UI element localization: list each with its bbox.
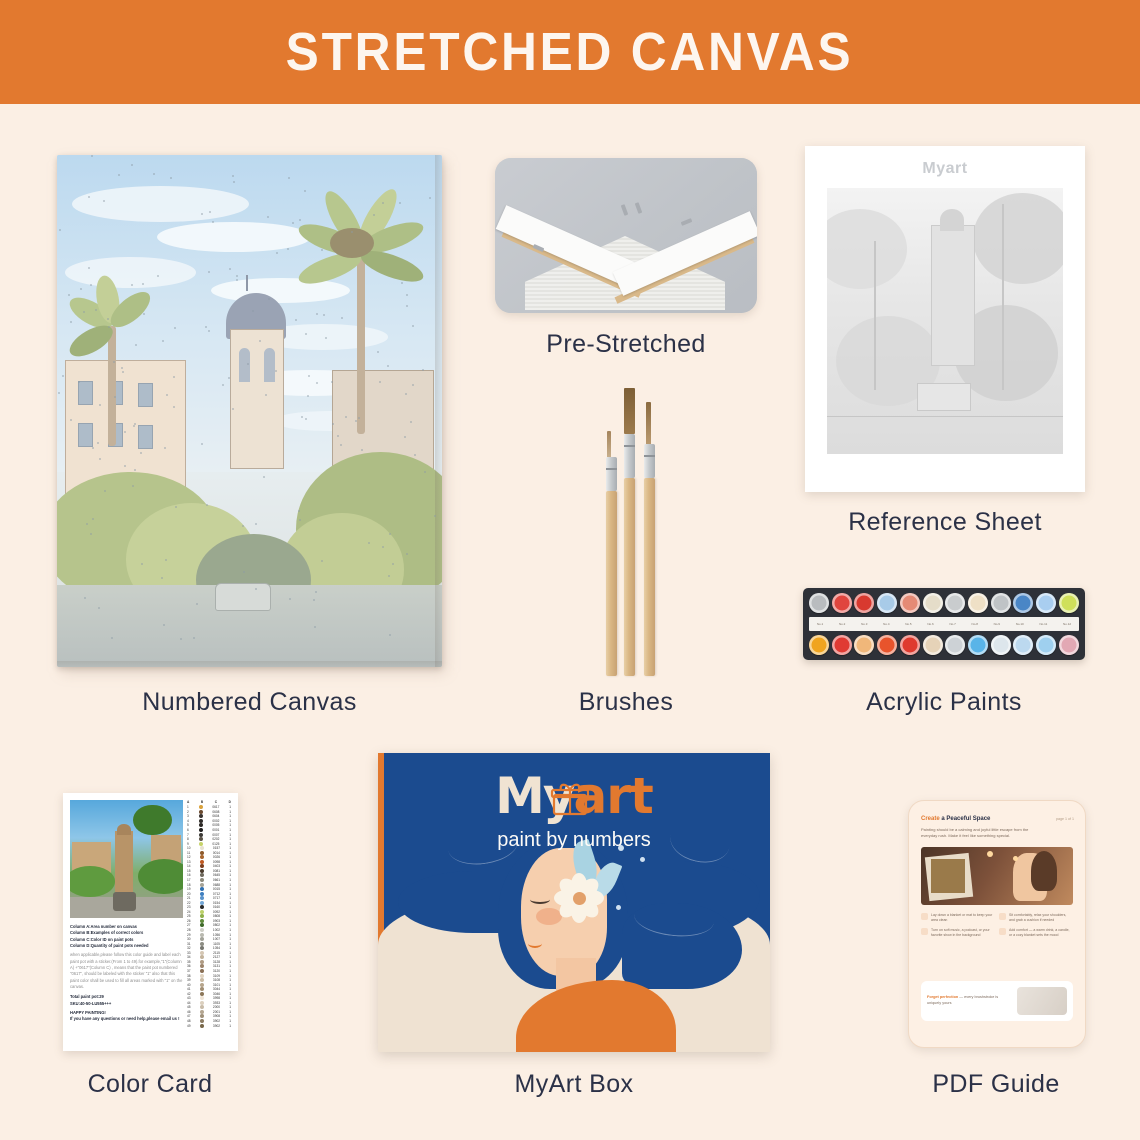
paint-pot — [991, 635, 1011, 655]
cell-area-number: 28 — [187, 928, 191, 932]
cell-quantity: 1 — [229, 969, 231, 973]
cell-color-swatch — [200, 951, 204, 955]
numbered-canvas-image — [57, 155, 442, 667]
paint-number-dot — [92, 447, 94, 449]
paint-number-dot — [345, 416, 347, 418]
pdf-tip-list: Lay down a blanket or mat to keep your a… — [921, 913, 1073, 938]
cell-area-number: 32 — [187, 946, 191, 950]
paint-label: No.4 — [883, 622, 889, 626]
cell-quantity: 1 — [229, 937, 231, 941]
cell-color-id: 0125 — [212, 842, 219, 846]
paint-number-dot — [236, 275, 238, 277]
pdf-subtitle: Painting should be a calming and joyful … — [921, 827, 1045, 839]
paint-number-dot — [99, 458, 101, 460]
cell-area-number: 41 — [187, 987, 191, 991]
canvas-artwork — [57, 155, 442, 667]
cell-color-swatch — [200, 937, 204, 941]
caption-pdf-guide: PDF Guide — [896, 1070, 1096, 1099]
brand-tagline: paint by numbers — [378, 829, 770, 852]
cell-color-swatch — [200, 996, 204, 1000]
cell-color-swatch — [200, 910, 204, 914]
paint-number-dot — [268, 298, 270, 300]
cell-color-id: 0802 — [213, 923, 220, 927]
cell-color-swatch — [200, 978, 204, 982]
paint-pot — [945, 635, 965, 655]
cell-quantity: 1 — [229, 978, 231, 982]
paint-number-dot — [412, 325, 414, 327]
color-card-image: Column A:Area number on canvas Column B:… — [63, 793, 238, 1051]
cell-color-swatch — [199, 819, 203, 823]
paint-pot — [900, 593, 920, 613]
paint-number-dot — [99, 404, 101, 406]
cell-quantity: 1 — [229, 878, 231, 882]
cell-color-id: 0645 — [213, 873, 220, 877]
cell-quantity: 1 — [229, 860, 231, 864]
pdf-page-number: page 1 of 1 — [1056, 817, 1074, 821]
cell-area-number: 30 — [187, 937, 191, 941]
cell-quantity: 1 — [229, 901, 231, 905]
cell-color-id: 3046 — [213, 992, 220, 996]
paint-number-dot — [97, 442, 99, 444]
cell-color-id: 0202 — [212, 837, 219, 841]
cell-color-id: 0002 — [212, 819, 219, 823]
canvas-right-edge — [435, 155, 442, 667]
paint-number-dot — [132, 485, 134, 487]
pdf-tip: Sit comfortably, relax your shoulders, a… — [999, 913, 1071, 924]
cell-area-number: 43 — [187, 996, 191, 1000]
cell-quantity: 1 — [229, 951, 231, 955]
paint-number-dot — [157, 275, 159, 277]
paint-number-dot — [247, 363, 249, 365]
cell-area-number: 31 — [187, 942, 191, 946]
paint-pot — [1059, 635, 1079, 655]
paint-label: No.5 — [905, 622, 911, 626]
cell-quantity: 1 — [229, 805, 231, 809]
paint-pot — [991, 593, 1011, 613]
cell-color-id: 2000 — [213, 1005, 220, 1009]
caption-pre-stretched: Pre-Stretched — [495, 330, 757, 359]
cell-quantity: 1 — [229, 914, 231, 918]
cell-area-number: 19 — [187, 887, 191, 891]
cell-color-swatch — [199, 805, 203, 809]
paint-number-dot — [387, 365, 389, 367]
callout-image — [1017, 987, 1067, 1015]
pdf-title: Create a Peaceful Space — [921, 816, 990, 822]
cell-color-id: 0903 — [213, 919, 220, 923]
caption-numbered-canvas: Numbered Canvas — [57, 688, 442, 717]
paint-number-dot — [321, 560, 323, 562]
cell-color-swatch — [200, 1019, 204, 1023]
paint-number-dot — [68, 294, 70, 296]
paint-number-dot — [91, 155, 93, 157]
cell-color-swatch — [200, 987, 204, 991]
pdf-guide-image: Create a Peaceful Space page 1 of 1 Pain… — [908, 800, 1086, 1048]
paint-pot — [809, 593, 829, 613]
cell-area-number: 1 — [187, 805, 189, 809]
cell-quantity: 1 — [229, 892, 231, 896]
legend-line: Column D:Quantity of paint pots needed — [70, 943, 183, 949]
cell-color-swatch — [200, 869, 204, 873]
paint-number-dot — [80, 288, 82, 290]
cell-area-number: 23 — [187, 905, 191, 909]
paint-number-dot — [392, 563, 394, 565]
cell-color-id: 0081 — [213, 869, 220, 873]
tip-text: Sit comfortably, relax your shoulders, a… — [1009, 913, 1071, 924]
cell-color-id: 2001 — [213, 1010, 220, 1014]
cell-color-swatch — [199, 828, 203, 832]
cell-quantity: 1 — [229, 846, 231, 850]
acrylic-paints-image: No.1No.2No.3No.4No.5No.6No.7No.8No.9No.1… — [803, 588, 1085, 660]
cell-color-id: 0154 — [213, 901, 220, 905]
cell-quantity: 1 — [229, 873, 231, 877]
cell-color-swatch — [200, 883, 204, 887]
cell-area-number: 27 — [187, 923, 191, 927]
cell-area-number: 18 — [187, 883, 191, 887]
paint-pot — [1013, 635, 1033, 655]
cell-quantity: 1 — [229, 960, 231, 964]
gift-icon — [550, 782, 590, 816]
cell-color-swatch — [200, 1024, 204, 1028]
col-b: B — [201, 800, 203, 804]
paint-number-dot — [316, 382, 318, 384]
color-card-legend: Column A:Area number on canvas Column B:… — [70, 924, 183, 1023]
cell-area-number: 37 — [187, 969, 191, 973]
cell-area-number: 22 — [187, 901, 191, 905]
col-c: C — [215, 800, 217, 804]
paint-label: No.12 — [1063, 622, 1071, 626]
cell-quantity: 1 — [229, 1001, 231, 1005]
cell-area-number: 46 — [187, 1010, 191, 1014]
paint-number-dot — [180, 638, 182, 640]
paint-number-dot — [321, 249, 323, 251]
cell-color-swatch — [200, 896, 204, 900]
palm-tree — [65, 288, 160, 438]
cell-area-number: 8 — [187, 837, 189, 841]
cell-color-id: 0026 — [213, 855, 220, 859]
cell-area-number: 4 — [187, 819, 189, 823]
paint-pot — [809, 635, 829, 655]
page-title: STRETCHED CANVAS — [286, 21, 854, 83]
paint-number-dot — [124, 465, 126, 467]
paint-pot — [832, 635, 852, 655]
cell-quantity: 1 — [229, 896, 231, 900]
paint-number-dot — [174, 327, 176, 329]
cell-color-id: 0661 — [213, 878, 220, 882]
paint-number-dot — [389, 533, 391, 535]
paint-number-dot — [379, 381, 381, 383]
cell-area-number: 39 — [187, 978, 191, 982]
flower-center — [573, 892, 586, 905]
brush-liner — [644, 402, 655, 676]
cell-color-swatch — [200, 851, 204, 855]
paint-label: No.2 — [839, 622, 845, 626]
canvas-bottom-edge — [57, 661, 442, 667]
cell-area-number: 44 — [187, 1001, 191, 1005]
paint-label: No.3 — [861, 622, 867, 626]
paint-pot — [968, 635, 988, 655]
paint-pot — [945, 593, 965, 613]
pdf-callout: Forget perfection — every brushstroke is… — [921, 981, 1073, 1021]
cell-area-number: 38 — [187, 974, 191, 978]
paint-number-dot — [70, 321, 72, 323]
paint-number-dot — [90, 284, 92, 286]
paint-number-dot — [70, 419, 72, 421]
cell-color-swatch — [200, 933, 204, 937]
cell-color-id: 3131 — [213, 964, 220, 968]
pdf-tip: Add comfort — a warm drink, a candle, or… — [999, 928, 1071, 939]
paint-pot — [854, 593, 874, 613]
color-table: A B C D 10617120608130604140002150005160… — [186, 800, 232, 1045]
cell-color-id: 1002 — [213, 928, 220, 932]
tip-icon — [999, 913, 1006, 920]
paint-number-dot — [243, 571, 245, 573]
cell-color-id: 3902 — [213, 1024, 220, 1028]
cell-color-swatch — [200, 928, 204, 932]
paint-number-dot — [422, 369, 424, 371]
cell-quantity: 1 — [229, 1024, 231, 1028]
paint-number-dot — [412, 384, 414, 386]
sparkle — [640, 857, 645, 862]
cell-color-swatch — [200, 942, 204, 946]
reference-sheet-image: Myart — [805, 146, 1085, 492]
paint-pot — [923, 593, 943, 613]
cell-quantity: 1 — [229, 919, 231, 923]
paint-number-dot — [103, 200, 105, 202]
palm-tree — [296, 206, 426, 416]
cell-color-swatch — [199, 814, 203, 818]
paint-number-dot — [142, 283, 144, 285]
cell-color-swatch — [200, 969, 204, 973]
cell-area-number: 47 — [187, 1014, 191, 1018]
cell-color-swatch — [200, 860, 204, 864]
cell-area-number: 34 — [187, 955, 191, 959]
infographic-page: STRETCHED CANVAS — [0, 0, 1140, 1140]
paint-label: No.6 — [927, 622, 933, 626]
cell-quantity: 1 — [229, 996, 231, 1000]
cell-color-id: 0688 — [213, 883, 220, 887]
cell-color-swatch — [199, 837, 203, 841]
cell-area-number: 11 — [187, 851, 190, 855]
cell-quantity: 1 — [229, 833, 231, 837]
paint-number-dot — [173, 406, 175, 408]
cell-color-swatch — [200, 946, 204, 950]
pdf-title-highlight: Create — [921, 816, 940, 822]
paint-number-dot — [173, 376, 175, 378]
cell-quantity: 1 — [229, 987, 231, 991]
cell-quantity: 1 — [229, 974, 231, 978]
tip-text: Add comfort — a warm drink, a candle, or… — [1009, 928, 1071, 939]
cell-quantity: 1 — [229, 864, 231, 868]
cell-area-number: 20 — [187, 892, 191, 896]
color-card-photo — [70, 800, 183, 918]
caption-color-card: Color Card — [40, 1070, 260, 1099]
cell-quantity: 1 — [229, 905, 231, 909]
cell-color-id: 0604 — [212, 814, 219, 818]
pdf-title-rest: a Peaceful Space — [940, 816, 991, 822]
paint-pot — [1059, 593, 1079, 613]
paint-pot — [1036, 593, 1056, 613]
cell-color-id: 0403 — [213, 864, 220, 868]
cell-area-number: 36 — [187, 964, 191, 968]
paint-number-dot — [212, 221, 214, 223]
cell-color-swatch — [200, 983, 204, 987]
paint-pot — [1036, 635, 1056, 655]
paint-label: No.7 — [949, 622, 955, 626]
cell-area-number: 6 — [187, 828, 189, 832]
paint-number-dot — [382, 202, 384, 204]
cell-quantity: 1 — [229, 923, 231, 927]
paint-number-dot — [332, 423, 334, 425]
cell-area-number: 42 — [187, 992, 191, 996]
cell-color-id: 3908 — [213, 1014, 220, 1018]
paint-pot — [923, 635, 943, 655]
brush-flat — [624, 388, 635, 676]
tip-text: Turn on soft music, a podcast, or your f… — [931, 928, 993, 939]
paint-label: No.11 — [1039, 622, 1047, 626]
cell-quantity: 1 — [229, 883, 231, 887]
paint-number-dot — [133, 425, 135, 427]
paint-number-dot — [124, 431, 126, 433]
pre-stretched-image — [495, 158, 757, 313]
cell-area-number: 48 — [187, 1019, 191, 1023]
pdf-tip: Lay down a blanket or mat to keep your a… — [921, 913, 993, 924]
pdf-tip: Turn on soft music, a podcast, or your f… — [921, 928, 993, 939]
cell-area-number: 33 — [187, 951, 191, 955]
cell-quantity: 1 — [229, 869, 231, 873]
cell-quantity: 1 — [229, 910, 231, 914]
cell-color-swatch — [200, 974, 204, 978]
paint-number-dot — [59, 229, 61, 231]
caption-myart-box: MyArt Box — [378, 1070, 770, 1099]
cell-area-number: 12 — [187, 855, 191, 859]
paint-number-dot — [305, 333, 307, 335]
cell-color-swatch — [200, 846, 204, 850]
cell-color-id: 0160 — [213, 905, 220, 909]
paint-number-dot — [208, 271, 210, 273]
col-d: D — [229, 800, 231, 804]
paint-number-dot — [377, 351, 379, 353]
cell-quantity: 1 — [229, 1005, 231, 1009]
cell-quantity: 1 — [229, 842, 231, 846]
paint-number-dot — [161, 577, 163, 579]
brush-round-small — [606, 432, 617, 676]
callout-bold: Forget perfection — [927, 995, 958, 999]
sparkle — [616, 905, 621, 910]
caption-reference-sheet: Reference Sheet — [805, 508, 1085, 537]
cell-color-id: 3109 — [213, 974, 220, 978]
cell-area-number: 13 — [187, 860, 191, 864]
cell-color-id: 0098 — [213, 860, 220, 864]
daisy-flower — [556, 875, 602, 921]
cell-color-id: 0092 — [213, 910, 220, 914]
cell-area-number: 24 — [187, 910, 191, 914]
paint-label: No.8 — [972, 622, 978, 626]
paint-number-dot — [141, 563, 143, 565]
paint-number-dot — [299, 519, 301, 521]
cell-area-number: 26 — [187, 919, 191, 923]
cell-quantity: 1 — [229, 946, 231, 950]
cell-quantity: 1 — [229, 1014, 231, 1018]
paint-number-dot — [373, 214, 375, 216]
tip-icon — [921, 913, 928, 920]
cell-color-id: 2115 — [213, 951, 220, 955]
paint-label-strip: No.1No.2No.3No.4No.5No.6No.7No.8No.9No.1… — [809, 617, 1079, 631]
cell-quantity: 1 — [229, 928, 231, 932]
reference-sheet-logo: Myart — [805, 160, 1085, 178]
paint-number-dot — [233, 181, 235, 183]
cell-color-swatch — [200, 919, 204, 923]
cell-area-number: 17 — [187, 878, 191, 882]
cell-quantity: 1 — [229, 855, 231, 859]
cell-area-number: 45 — [187, 1005, 191, 1009]
paint-pot — [854, 635, 874, 655]
cell-quantity: 1 — [229, 942, 231, 946]
callout-text: Forget perfection — every brushstroke is… — [927, 995, 1012, 1006]
cell-color-swatch — [199, 810, 203, 814]
paint-number-dot — [255, 523, 257, 525]
cell-area-number: 29 — [187, 933, 191, 937]
cell-quantity: 1 — [229, 933, 231, 937]
paint-pot — [1013, 593, 1033, 613]
paint-number-dot — [153, 173, 155, 175]
cell-color-id: 2127 — [213, 955, 220, 959]
cell-color-id: 1054 — [213, 946, 220, 950]
brushes-image — [578, 388, 678, 676]
cell-color-id: 0001 — [212, 828, 219, 832]
cell-quantity: 1 — [229, 828, 231, 832]
cell-area-number: 2 — [187, 810, 189, 814]
contact-line: If you have any questions or need help,p… — [70, 1016, 183, 1022]
reference-line-art — [827, 188, 1063, 454]
col-a: A — [187, 800, 189, 804]
paint-number-dot — [267, 216, 269, 218]
cell-quantity: 1 — [229, 819, 231, 823]
cell-quantity: 1 — [229, 955, 231, 959]
cloud — [65, 257, 196, 288]
cell-color-id: 3120 — [213, 969, 220, 973]
cell-color-id: 0808 — [213, 914, 220, 918]
paint-number-dot — [84, 597, 86, 599]
cell-quantity: 1 — [229, 810, 231, 814]
cell-color-id: 0712 — [213, 892, 220, 896]
paint-label: No.9 — [994, 622, 1000, 626]
fountain — [215, 583, 271, 611]
cell-quantity: 1 — [229, 983, 231, 987]
paint-number-dot — [265, 394, 267, 396]
cloud — [72, 186, 249, 222]
paint-pot-row-bottom — [809, 635, 1079, 655]
cell-color-id: 0717 — [213, 896, 220, 900]
cell-color-id: 0005 — [212, 823, 219, 827]
cell-color-swatch — [200, 1001, 204, 1005]
paint-number-dot — [295, 319, 297, 321]
cell-color-swatch — [200, 878, 204, 882]
cell-area-number: 40 — [187, 983, 191, 987]
paint-number-dot — [263, 476, 265, 478]
tip-icon — [999, 928, 1006, 935]
caption-acrylic-paints: Acrylic Paints — [803, 688, 1085, 717]
cell-area-number: 21 — [187, 896, 191, 900]
paint-number-dot — [406, 553, 408, 555]
tip-icon — [921, 928, 928, 935]
cell-area-number: 10 — [187, 846, 191, 850]
paint-number-dot — [292, 222, 294, 224]
cell-color-swatch — [200, 892, 204, 896]
cell-area-number: 3 — [187, 814, 189, 818]
cell-quantity: 1 — [229, 814, 231, 818]
paint-pot — [968, 593, 988, 613]
cell-area-number: 14 — [187, 864, 191, 868]
